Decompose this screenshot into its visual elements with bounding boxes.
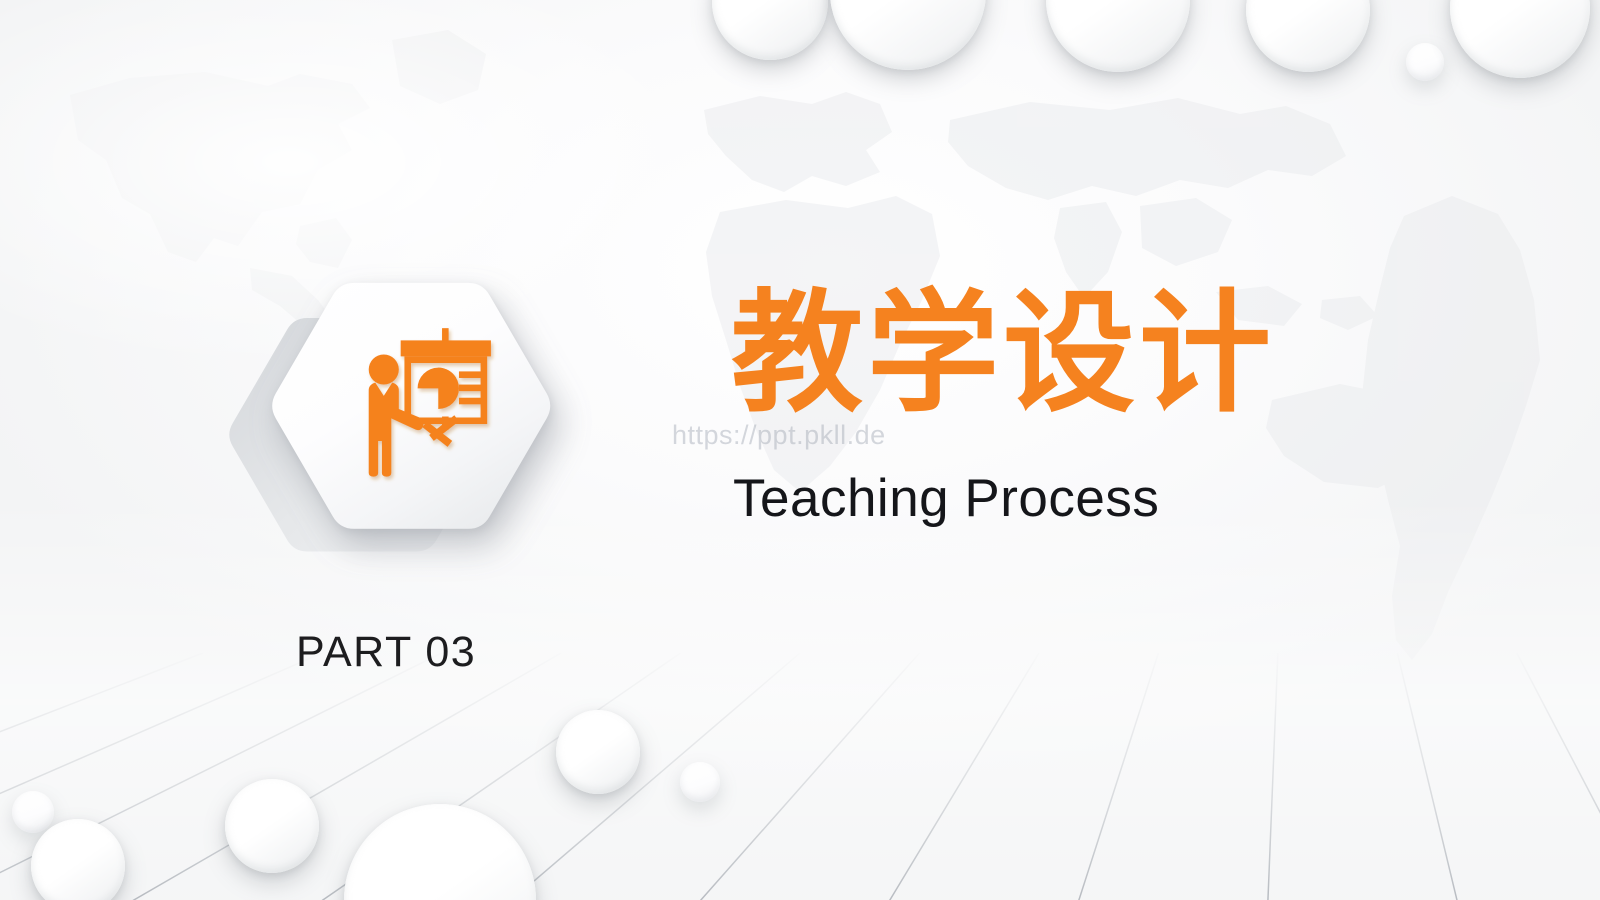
slide-canvas: PART 03 教学设计 https://ppt.pkll.de Teachin… <box>0 0 1600 900</box>
decor-circle-bottom-3 <box>225 779 319 873</box>
section-badge <box>205 255 595 600</box>
decor-circle-bottom-1 <box>12 791 54 833</box>
decor-circle-bottom-6 <box>680 762 720 802</box>
decor-circle-top-4 <box>1246 0 1370 72</box>
decor-circle-top-5 <box>1406 43 1444 81</box>
page-title-chinese: 教学设计 <box>731 288 1275 420</box>
decor-circle-top-2 <box>830 0 986 70</box>
decor-circle-bottom-5 <box>556 710 640 794</box>
decor-circle-top-6 <box>1450 0 1590 78</box>
page-subtitle-english: Teaching Process <box>733 468 1159 529</box>
part-number-label: PART 03 <box>296 628 476 677</box>
perspective-grid-floor <box>0 653 1600 900</box>
presenter-board-icon <box>333 315 521 503</box>
site-watermark: https://ppt.pkll.de <box>672 420 886 451</box>
decor-circle-top-3 <box>1046 0 1190 72</box>
decor-circle-top-1 <box>712 0 828 60</box>
